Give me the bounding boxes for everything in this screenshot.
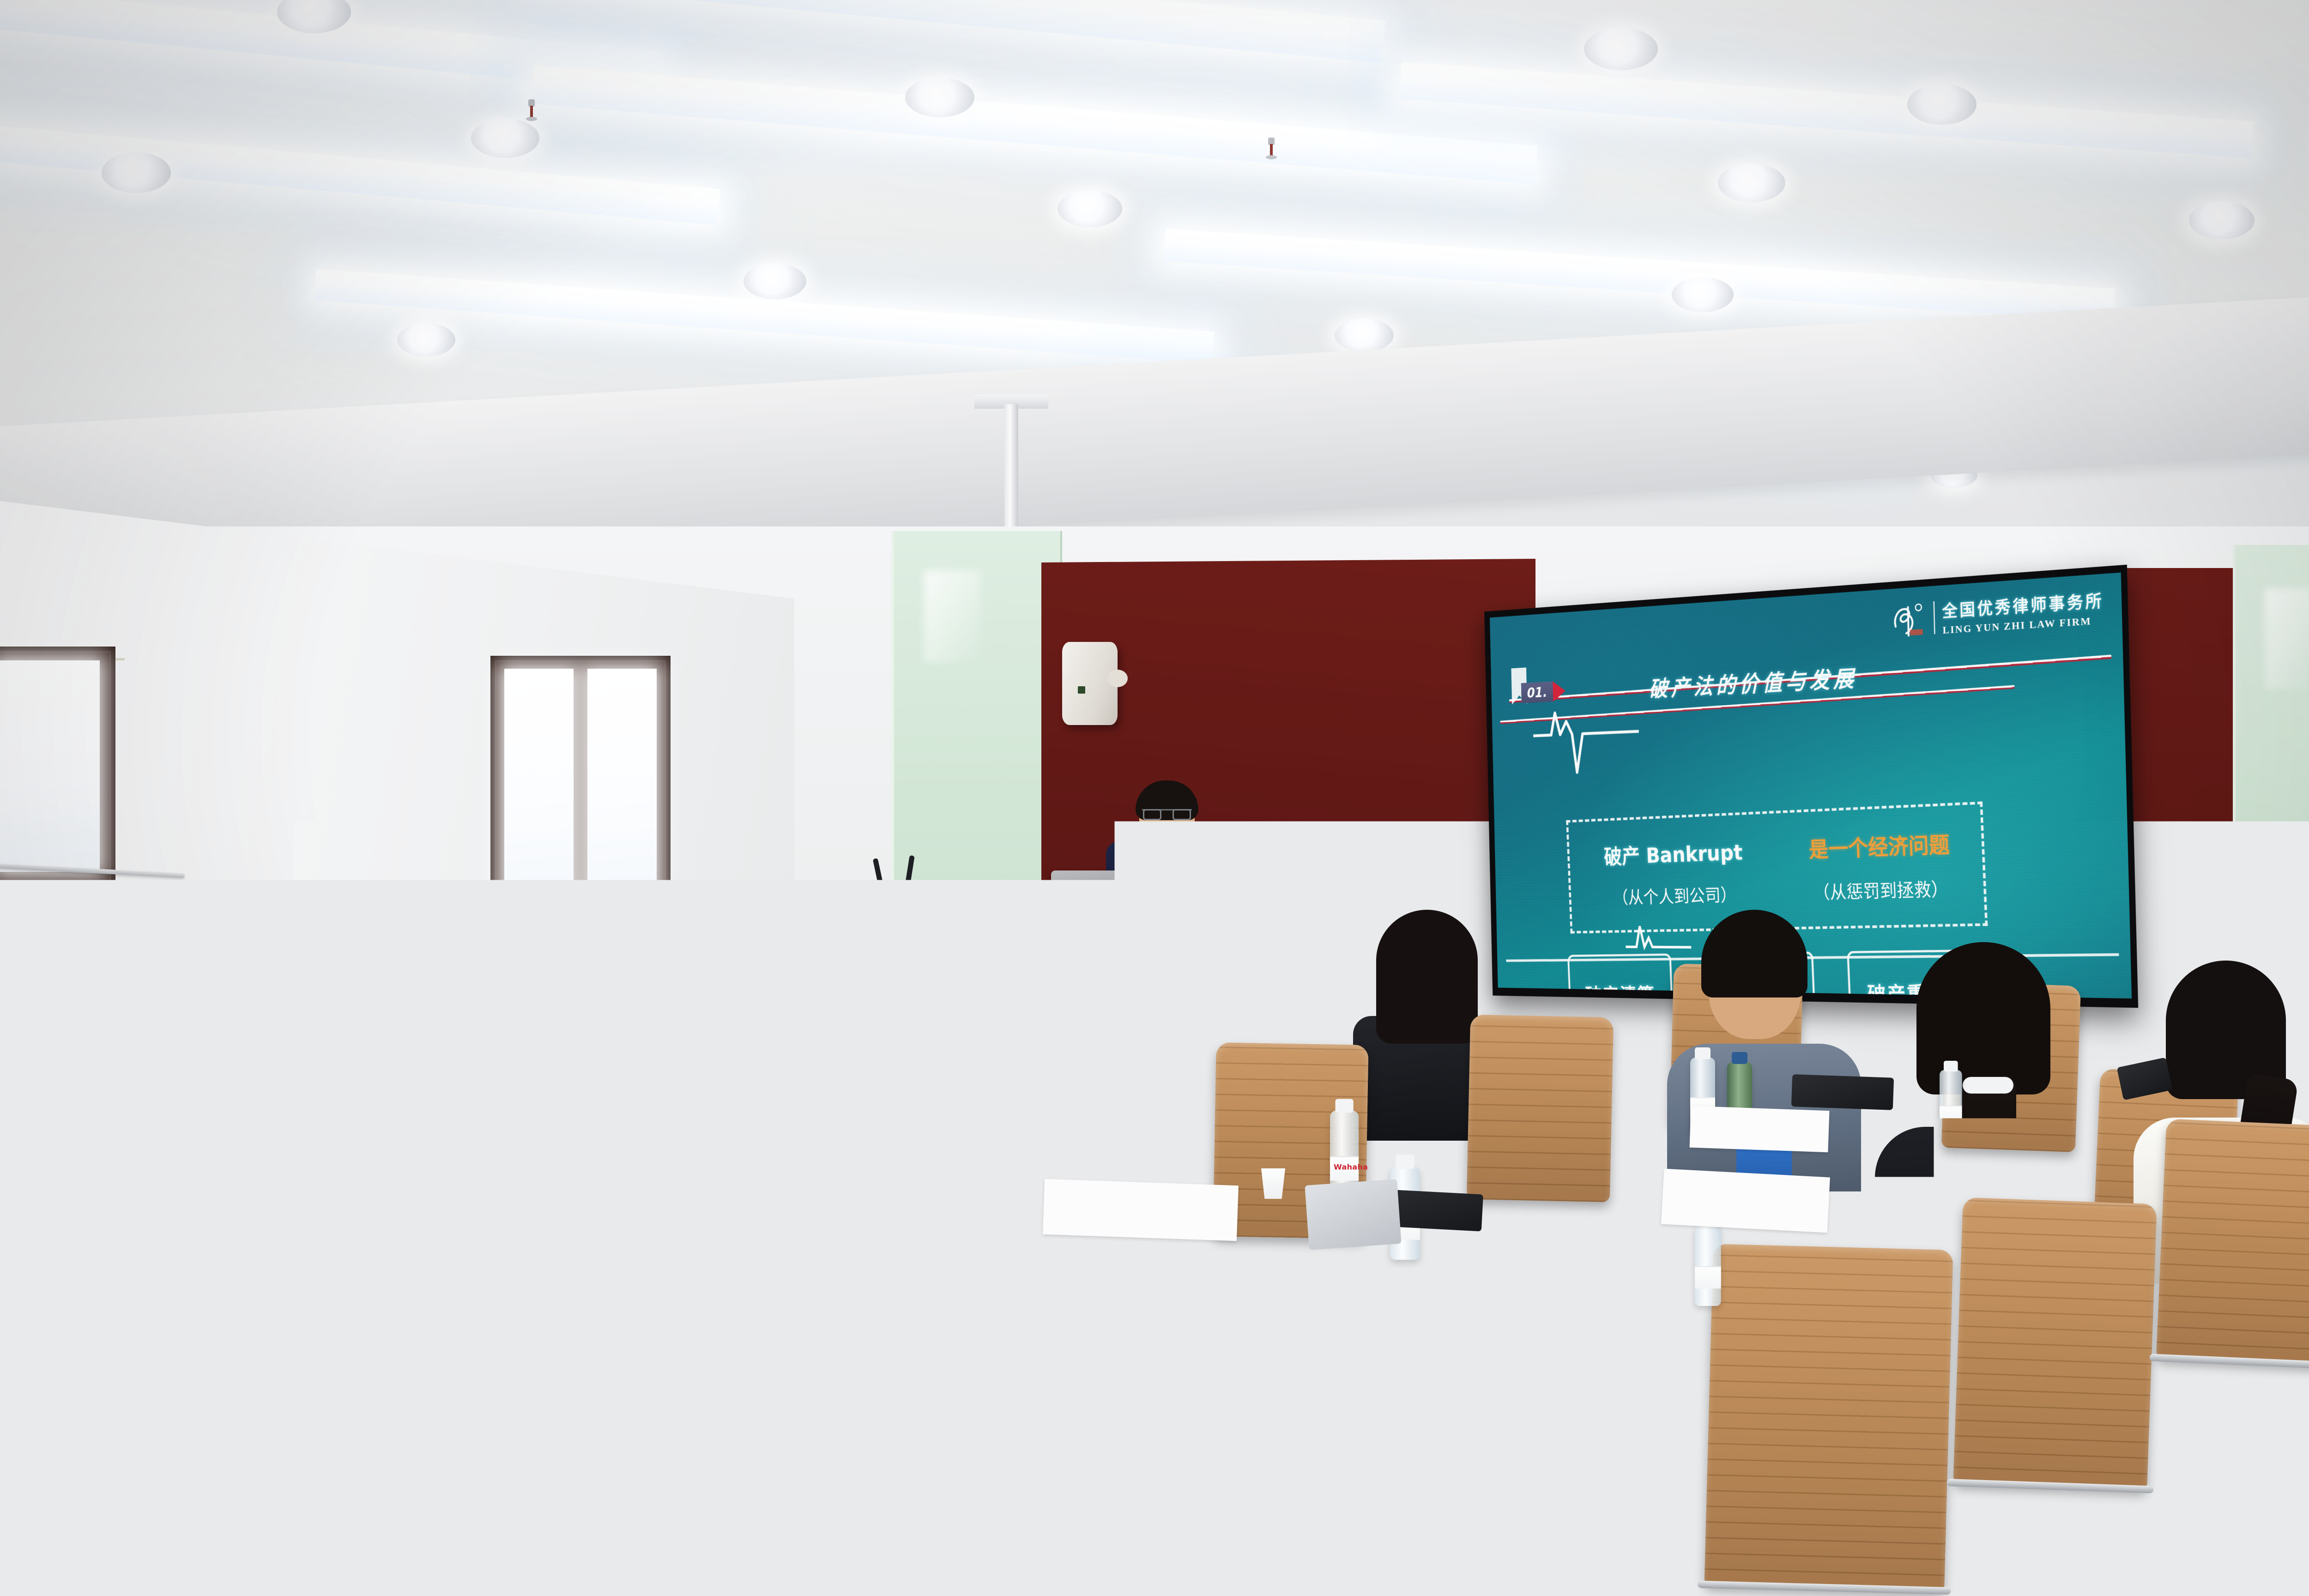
bottle-cap <box>1944 1061 1958 1071</box>
downlight <box>2189 201 2255 239</box>
bottle-cap <box>219 1269 246 1289</box>
led-strip-light <box>1399 62 2254 158</box>
attendee-3-hair <box>391 928 492 1007</box>
bottle-label <box>641 1074 666 1095</box>
attendee-5-hair <box>746 905 843 979</box>
downlight <box>1335 319 1394 352</box>
bottle-brand: Wahaha <box>217 1364 268 1376</box>
window-pane <box>587 669 657 901</box>
window-left-2 <box>490 656 671 914</box>
water-bottle[interactable]: Wahaha <box>212 1286 254 1418</box>
chair[interactable] <box>1467 1015 1614 1202</box>
console-display <box>912 922 922 928</box>
tablet[interactable] <box>2083 1318 2225 1424</box>
chair[interactable] <box>611 1161 812 1425</box>
logo-divider <box>1933 601 1935 634</box>
console-display <box>890 922 901 928</box>
hair-tie <box>1963 1077 2013 1094</box>
presenter-lapel-pin <box>1198 866 1209 877</box>
water-bottle[interactable] <box>1695 1225 1721 1306</box>
bottle-cap <box>1732 1052 1747 1064</box>
presenter-glasses-icon <box>1142 809 1192 819</box>
table-leg <box>1567 1209 1589 1358</box>
callout-row: 破产 Bankrupt （从个人到公司） 是一个经济问题 （从惩罚到拯救） <box>1575 810 1991 910</box>
firm-monogram-icon <box>1888 598 1927 641</box>
water-bottle[interactable] <box>1100 984 1122 1052</box>
conference-room-photo: 全国优秀律师事务所 LING YUN ZHI LAW FIRM 01. 破产法的… <box>0 0 2309 1596</box>
flow-step-1-heading: 破产清算 <box>1585 980 1656 998</box>
smartphone[interactable] <box>646 1027 753 1065</box>
bottle-label: Wahaha <box>1330 1156 1359 1181</box>
wall-speaker <box>1062 642 1118 725</box>
window-roller-shade <box>0 526 125 660</box>
window-pane <box>504 669 574 901</box>
led-strip-light <box>1164 229 2115 320</box>
bottle-label: Wahaha <box>212 1354 254 1390</box>
callout-right-heading: 是一个经济问题 <box>1808 827 1950 864</box>
attendee-4-glasses-icon <box>311 928 345 940</box>
attendee-6-hair <box>859 942 997 1127</box>
bottle-label <box>1695 1266 1721 1288</box>
smartphone[interactable] <box>1791 1074 1894 1110</box>
apple-logo-icon <box>1103 893 1115 906</box>
chair[interactable] <box>1704 1244 1953 1591</box>
bottle-cap <box>1104 975 1118 985</box>
water-bottle[interactable] <box>1940 1070 1962 1140</box>
downlight <box>905 78 974 117</box>
window-pane <box>0 660 100 872</box>
window-left-1 <box>0 647 115 887</box>
downlight <box>1907 84 1977 125</box>
downlight <box>397 323 455 357</box>
bottle-label <box>1100 1019 1122 1037</box>
attendee-12-hair <box>1376 910 1478 1044</box>
bottle-cap <box>1695 1047 1711 1059</box>
downlight <box>102 152 171 193</box>
sprinkler-head <box>526 99 538 124</box>
firm-name-block: 全国优秀律师事务所 LING YUN ZHI LAW FIRM <box>1942 587 2104 637</box>
callout-left: 破产 Bankrupt （从个人到公司） <box>1575 820 1775 910</box>
attendee-1-hair <box>73 1004 248 1143</box>
attendee-9-hair <box>1916 942 2050 1094</box>
downlight <box>1584 28 1658 70</box>
sprinkler-head <box>1265 138 1277 163</box>
bottle-cap <box>1336 1099 1354 1113</box>
heartbeat-line-icon <box>1532 669 1640 797</box>
callout-left-heading: 破产 Bankrupt <box>1603 835 1743 871</box>
laptop-bag <box>480 979 619 1067</box>
attendee-8-hair <box>1701 910 1807 997</box>
handout-paper[interactable] <box>1661 1169 1830 1233</box>
downlight <box>743 263 806 299</box>
microphone-head <box>1160 859 1179 869</box>
window-roller-shade <box>494 531 670 670</box>
handout-paper[interactable] <box>1690 1106 1830 1152</box>
bottle-label <box>1940 1106 1962 1124</box>
attendee-6 <box>831 933 1030 1256</box>
callout-right: 是一个经济问题 （从惩罚到拯救） <box>1771 810 1991 906</box>
handout-paper[interactable] <box>1043 1179 1239 1241</box>
callout-right-sub: （从惩罚到拯救） <box>1813 874 1949 905</box>
tablet[interactable] <box>1305 1179 1401 1250</box>
downlight <box>1672 277 1734 312</box>
downlight <box>1058 190 1122 227</box>
bottle-brand: Wahaha <box>1334 1163 1368 1172</box>
downlight <box>1718 163 1785 202</box>
led-strip-light <box>531 65 1538 185</box>
slide-title: 破产法的价值与发展 <box>1648 660 1857 703</box>
bottle-cap <box>1396 1155 1414 1169</box>
handout-paper[interactable] <box>137 1496 334 1580</box>
bottle-label <box>523 1083 548 1105</box>
law-firm-logo: 全国优秀律师事务所 LING YUN ZHI LAW FIRM <box>1888 586 2104 641</box>
